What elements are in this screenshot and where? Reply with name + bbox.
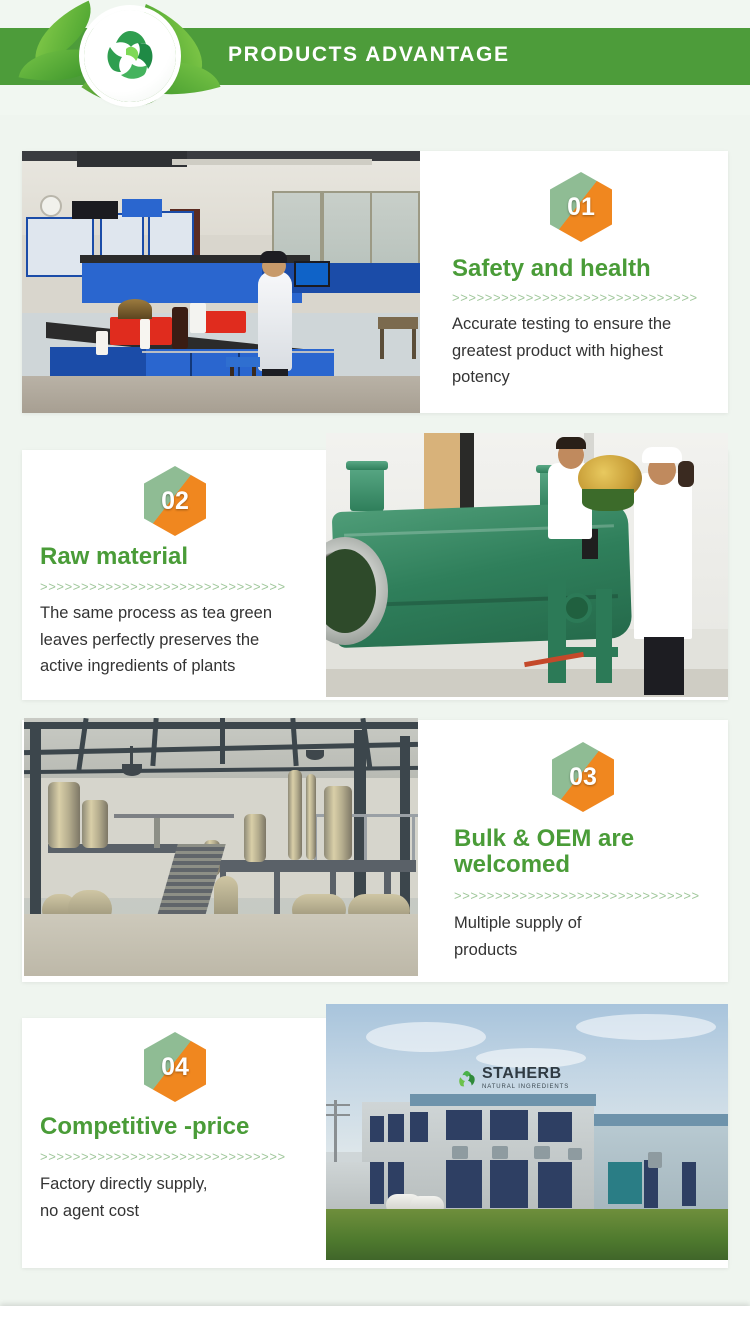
building-sign-subtitle: NATURAL INGREDIENTS (482, 1082, 569, 1093)
building-sign-name: STAHERB (482, 1066, 569, 1082)
badge-01: 01 (550, 172, 612, 242)
badge-04: 04 (144, 1032, 206, 1102)
leaf-recycle-logo-icon (22, 0, 222, 115)
card-1-text: 01 Safety and health >>>>>>>>>>>>>>>>>>>… (452, 172, 710, 391)
extraction-workshop-photo (24, 718, 418, 976)
products-advantage-page: PRODUCTS ADVANTAGE (0, 0, 750, 1326)
tea-leaf-roasting-machine-photo (326, 433, 728, 697)
badge-03-number: 03 (552, 742, 614, 812)
page-title: PRODUCTS ADVANTAGE (228, 43, 510, 67)
badge-01-number: 01 (550, 172, 612, 242)
card-4-chevron-divider-icon: >>>>>>>>>>>>>>>>>>>>>>>>>>>>>> (40, 1150, 290, 1163)
card-4-body: Factory directly supply, no agent cost (40, 1171, 316, 1224)
card-1-title: Safety and health (452, 256, 710, 282)
logo-circle (84, 10, 176, 102)
card-3-chevron-divider-icon: >>>>>>>>>>>>>>>>>>>>>>>>>>>>>> (454, 889, 704, 902)
staherb-leaf-logo-icon (456, 1069, 478, 1091)
factory-building-exterior-photo: STAHERB NATURAL INGREDIENTS (326, 1004, 728, 1260)
card-2-body: The same process as tea green leaves per… (40, 600, 316, 680)
card-4-title: Competitive -price (40, 1114, 316, 1140)
card-2-title: Raw material (40, 544, 316, 570)
card-2-text: 02 Raw material >>>>>>>>>>>>>>>>>>>>>>>>… (40, 466, 316, 680)
card-4-text: 04 Competitive -price >>>>>>>>>>>>>>>>>>… (40, 1032, 316, 1224)
badge-03: 03 (552, 742, 614, 812)
badge-02-number: 02 (144, 466, 206, 536)
card-1-chevron-divider-icon: >>>>>>>>>>>>>>>>>>>>>>>>>>>>>> (452, 291, 704, 304)
card-3-body: Multiple supply of products (454, 910, 712, 963)
logo-triangle-leaf-mark (100, 25, 160, 87)
page-bottom-edge (0, 1306, 750, 1326)
page-header: PRODUCTS ADVANTAGE (0, 0, 750, 115)
card-1-body: Accurate testing to ensure the greatest … (452, 311, 710, 391)
quality-control-laboratory-photo (22, 151, 420, 413)
badge-02: 02 (144, 466, 206, 536)
badge-04-number: 04 (144, 1032, 206, 1102)
card-3-text: 03 Bulk & OEM are welcomed >>>>>>>>>>>>>… (454, 742, 712, 963)
card-2-chevron-divider-icon: >>>>>>>>>>>>>>>>>>>>>>>>>>>>>> (40, 580, 290, 593)
card-3-title: Bulk & OEM are welcomed (454, 826, 712, 878)
building-logo-sign: STAHERB NATURAL INGREDIENTS (456, 1066, 569, 1093)
